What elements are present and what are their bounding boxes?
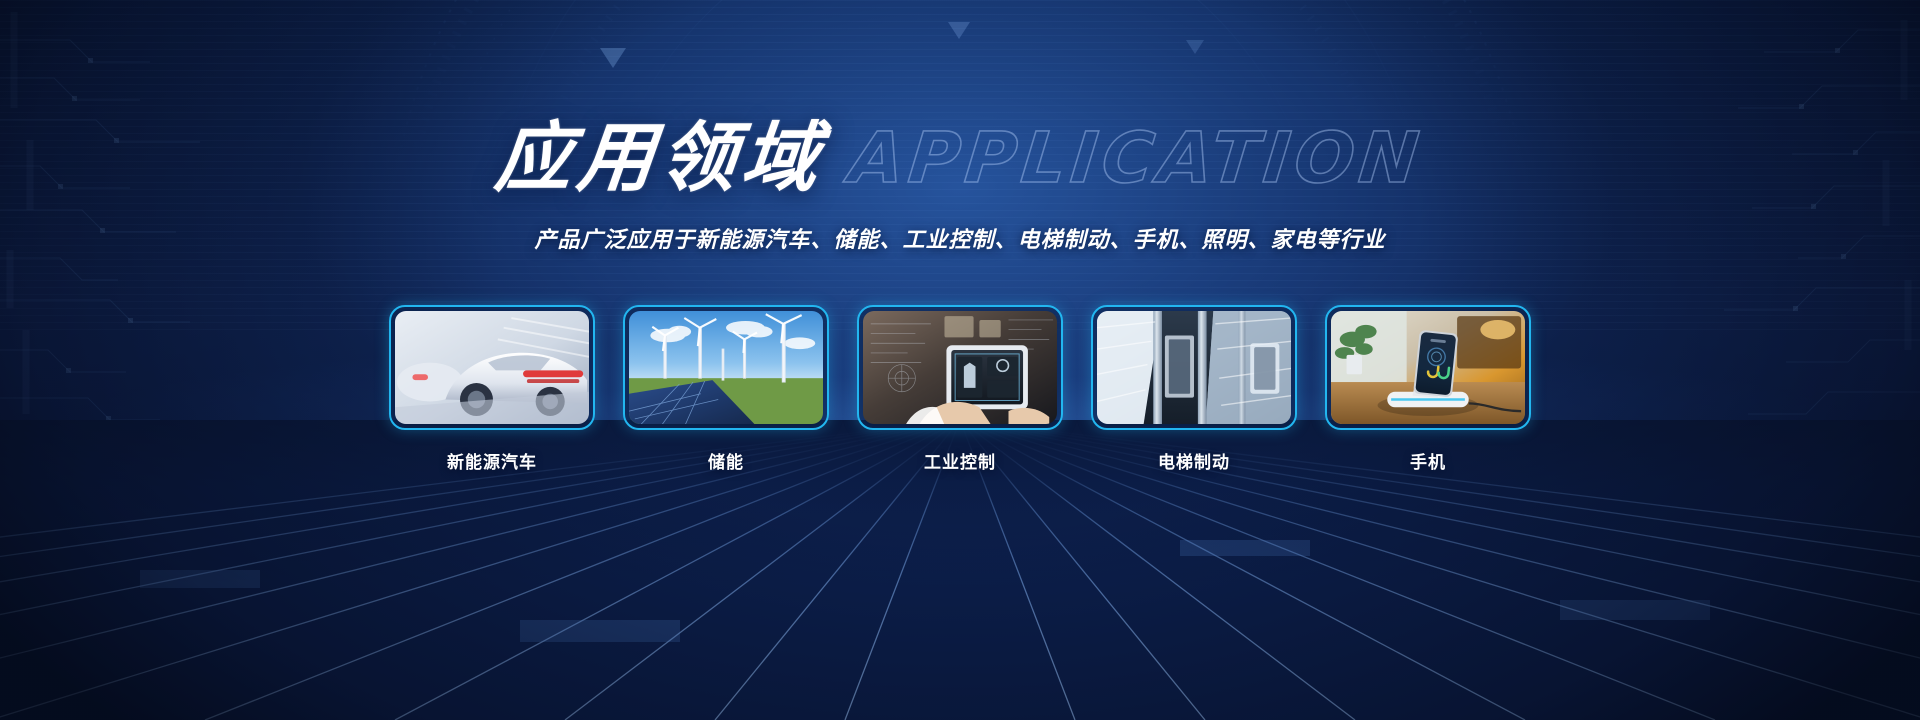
card-label: 手机 — [1410, 448, 1446, 473]
card-frame[interactable] — [857, 305, 1063, 430]
application-card[interactable]: 新能源汽车 — [389, 305, 595, 473]
card-frame[interactable] — [623, 305, 829, 430]
card-label: 电梯制动 — [1158, 448, 1230, 473]
application-card-list: 新能源汽车 — [0, 305, 1920, 473]
card-label: 新能源汽车 — [447, 448, 537, 473]
new-energy-vehicle-photo — [395, 311, 589, 424]
page-title: 应用领域 — [492, 120, 828, 196]
banner-title-row: 应用领域 APPLICATION — [0, 120, 1920, 196]
mobile-phone-wireless-charger-photo — [1331, 311, 1525, 424]
application-banner: 应用领域 APPLICATION 产品广泛应用于新能源汽车、储能、工业控制、电梯… — [0, 0, 1920, 720]
elevator-braking-photo — [1097, 311, 1291, 424]
application-card[interactable]: 手机 — [1325, 305, 1531, 473]
banner-subtitle: 产品广泛应用于新能源汽车、储能、工业控制、电梯制动、手机、照明、家电等行业 — [0, 222, 1920, 254]
card-label: 工业控制 — [924, 448, 996, 473]
industrial-control-tablet-photo — [863, 311, 1057, 424]
card-frame[interactable] — [389, 305, 595, 430]
card-frame[interactable] — [1091, 305, 1297, 430]
card-label: 储能 — [708, 448, 744, 473]
application-card[interactable]: 工业控制 — [857, 305, 1063, 473]
page-title-english: APPLICATION — [847, 123, 1428, 193]
application-card[interactable]: 储能 — [623, 305, 829, 473]
application-card[interactable]: 电梯制动 — [1091, 305, 1297, 473]
energy-storage-solar-wind-photo — [629, 311, 823, 424]
card-frame[interactable] — [1325, 305, 1531, 430]
